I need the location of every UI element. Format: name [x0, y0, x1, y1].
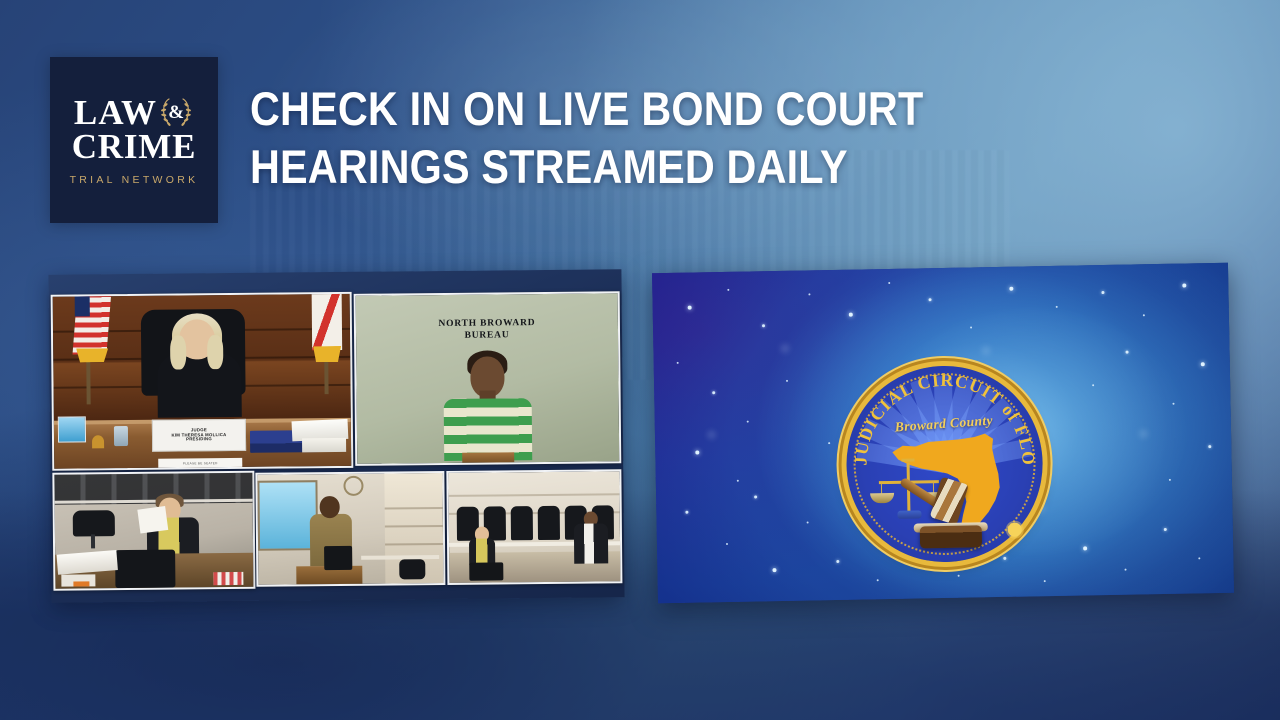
- video-tile-judge-bench: JUDGE KIM THERESA MOLLICA PRESIDING PLEA…: [51, 292, 354, 471]
- courtroom-multiview-panel: JUDGE KIM THERESA MOLLICA PRESIDING PLEA…: [48, 269, 624, 602]
- judge-robe: [157, 353, 242, 418]
- logo-tagline: TRIAL NETWORK: [70, 174, 199, 186]
- florida-flag: [312, 292, 343, 350]
- us-flag-fringe: [76, 348, 108, 362]
- gallery-monitor: [469, 562, 503, 580]
- court-seal-panel: 17TH JUDICIAL CIRCUIT of FLORIDA Broward…: [652, 263, 1234, 603]
- seventeenth-circuit-seal: 17TH JUDICIAL CIRCUIT of FLORIDA Broward…: [845, 364, 1045, 564]
- headline: CHECK IN ON LIVE BOND COURT HEARINGS STR…: [250, 80, 945, 197]
- video-tile-defendant: NORTH BROWARD BUREAU: [354, 291, 622, 466]
- logo-ampersand-wreath: &: [158, 94, 194, 130]
- logo-word-crime: CRIME: [72, 129, 197, 165]
- law-and-crime-logo: LAW: [50, 57, 218, 223]
- judge-nameplate: JUDGE KIM THERESA MOLLICA PRESIDING: [152, 419, 246, 452]
- promo-graphic: LAW: [0, 0, 1280, 720]
- courtroom-sign: PLEASE BE SEATED: [158, 458, 242, 469]
- counsel-chair: [399, 559, 425, 579]
- podium-monitor: [324, 546, 352, 570]
- counsel-table: [361, 555, 439, 560]
- video-tile-gallery: [446, 469, 622, 585]
- courtroom-sign-text: PLEASE BE SEATED: [183, 461, 218, 465]
- defendant-striped-uniform: [444, 398, 533, 461]
- desk-folders: [213, 572, 243, 585]
- wall-display-screen: [257, 480, 318, 551]
- bench-cup: [114, 426, 128, 446]
- headline-line-2: HEARINGS STREAMED DAILY: [250, 138, 945, 196]
- speaker-head: [320, 496, 340, 518]
- office-chair: [73, 510, 115, 536]
- video-tile-podium: [255, 471, 445, 587]
- logo-ampersand: &: [168, 103, 184, 122]
- held-document: [137, 506, 168, 533]
- gavel-icon: [899, 475, 992, 549]
- jail-podium: [462, 452, 514, 462]
- bench-lamp: [92, 435, 104, 448]
- gallery-person-1-body: [469, 538, 495, 564]
- logo-top-line: LAW: [74, 94, 194, 130]
- nameplate-line-3: PRESIDING: [186, 437, 212, 442]
- headline-line-1: CHECK IN ON LIVE BOND COURT: [250, 80, 945, 138]
- bench-monitor: [58, 416, 86, 442]
- logo-word-law: LAW: [74, 95, 157, 130]
- us-flag-canton: [75, 292, 90, 316]
- multiview-grid: JUDGE KIM THERESA MOLLICA PRESIDING PLEA…: [51, 289, 621, 586]
- florida-flag-fringe: [313, 346, 341, 362]
- video-tile-clerk-desk: [52, 471, 255, 591]
- courtroom-seal-icon: [343, 476, 363, 496]
- desk-monitor: [115, 550, 175, 589]
- gallery-person-2-body: [574, 523, 608, 563]
